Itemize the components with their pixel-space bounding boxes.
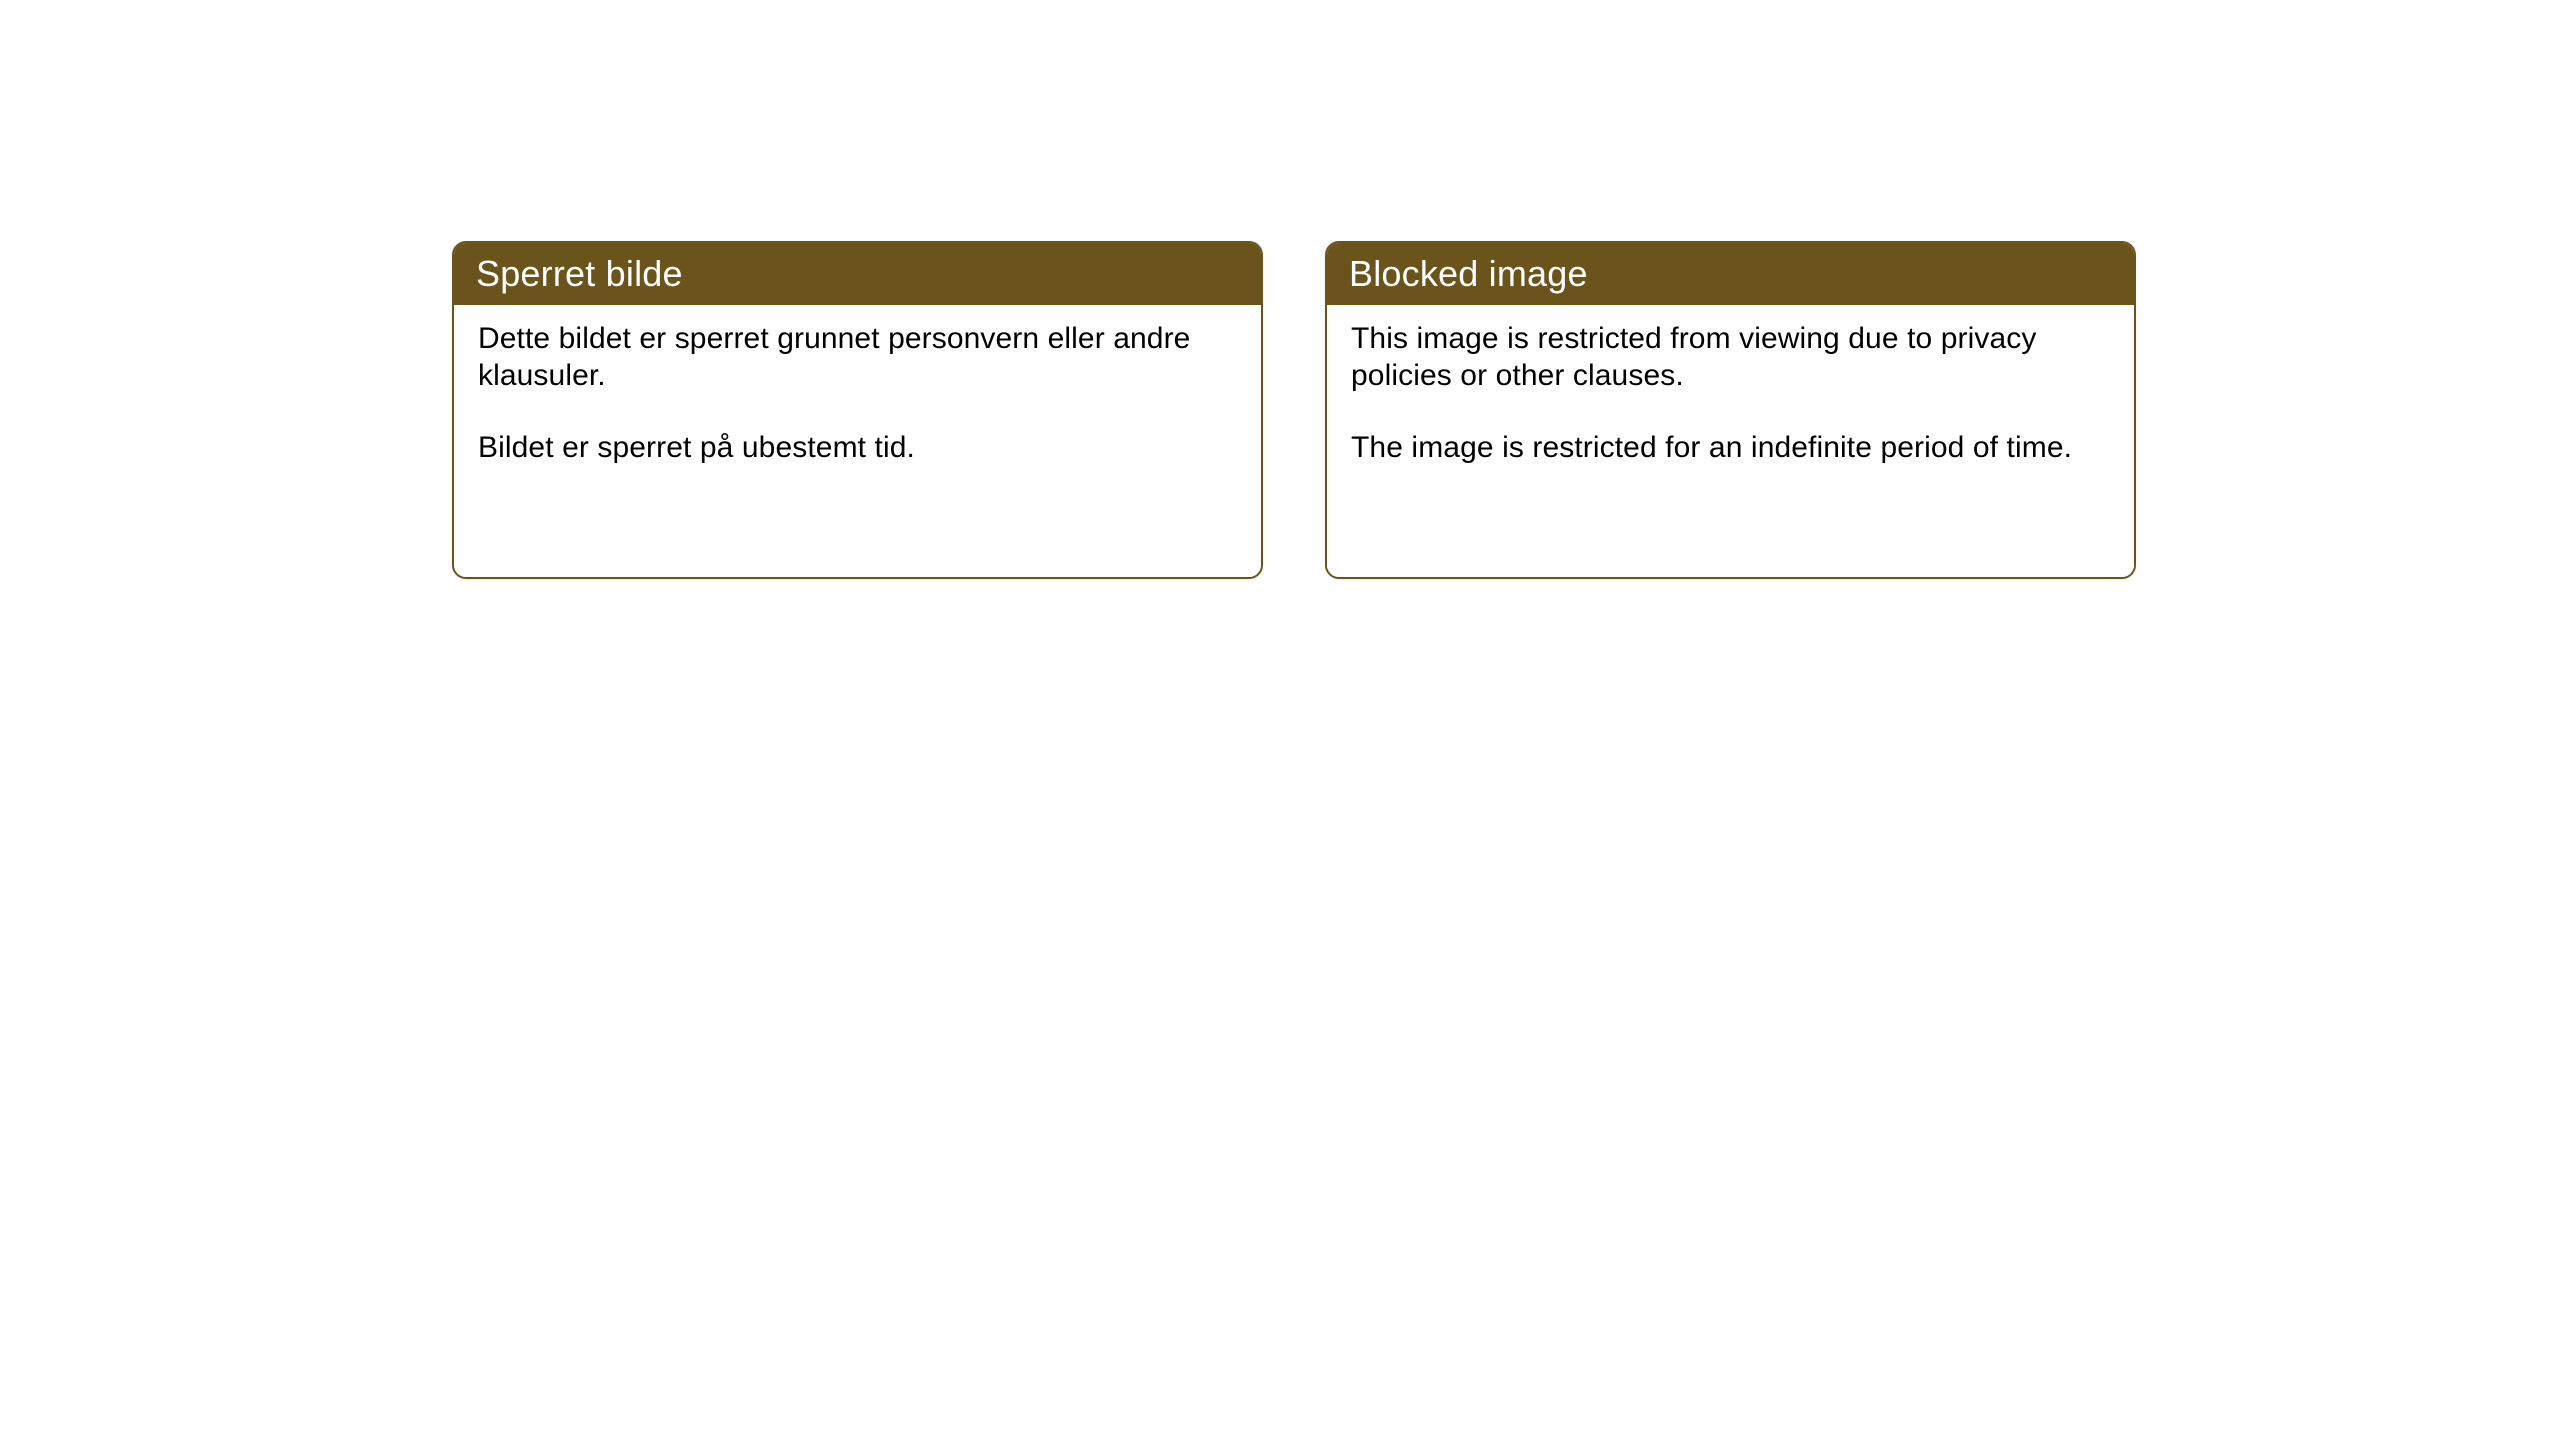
card-paragraph-en-2: The image is restricted for an indefinit…: [1351, 430, 2108, 467]
card-header-no: Sperret bilde: [454, 243, 1261, 305]
card-body-en: This image is restricted from viewing du…: [1327, 305, 2134, 577]
card-paragraph-no-1: Dette bildet er sperret grunnet personve…: [478, 321, 1235, 394]
blocked-image-card-en: Blocked image This image is restricted f…: [1325, 241, 2136, 579]
card-body-no: Dette bildet er sperret grunnet personve…: [454, 305, 1261, 577]
blocked-image-card-no: Sperret bilde Dette bildet er sperret gr…: [452, 241, 1263, 579]
card-paragraph-no-2: Bildet er sperret på ubestemt tid.: [478, 430, 1235, 467]
card-header-en: Blocked image: [1327, 243, 2134, 305]
card-paragraph-en-1: This image is restricted from viewing du…: [1351, 321, 2108, 394]
card-title-en: Blocked image: [1349, 256, 1588, 292]
blocked-image-notice-group: Sperret bilde Dette bildet er sperret gr…: [452, 241, 2136, 579]
card-title-no: Sperret bilde: [476, 256, 683, 292]
